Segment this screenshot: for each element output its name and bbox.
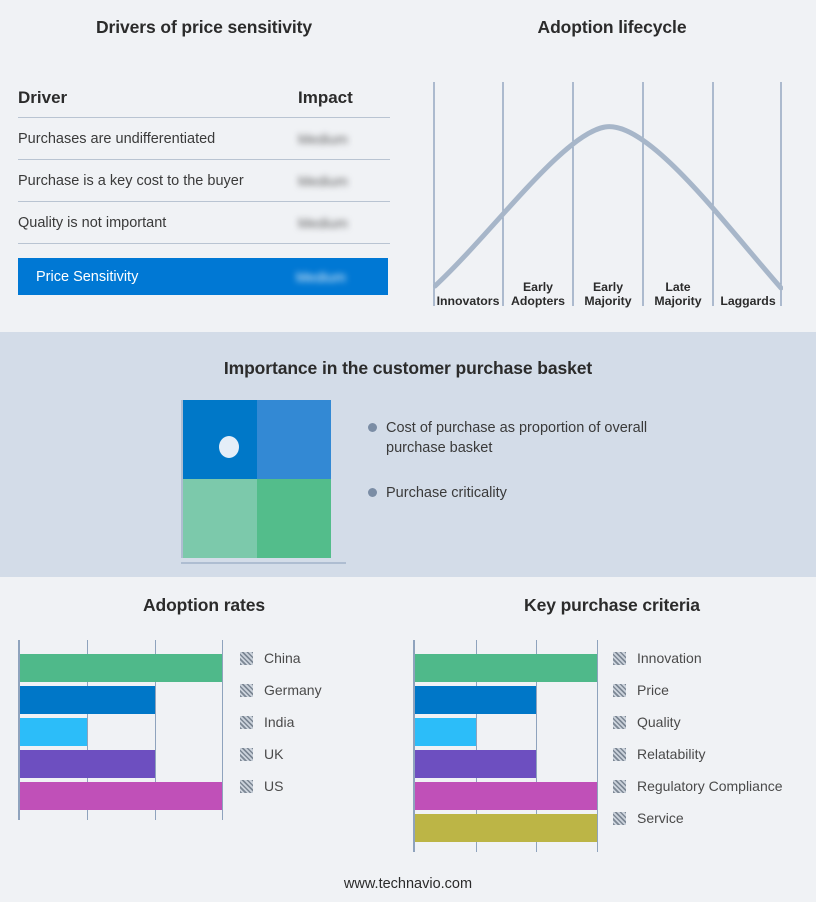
infographic-page: Drivers of price sensitivity Driver Impa…	[0, 0, 816, 902]
legend-label: India	[264, 714, 294, 730]
driver-label: Purchases are undifferentiated	[18, 131, 298, 147]
legend-item: Relatability	[613, 738, 783, 770]
bar-fill	[20, 654, 222, 682]
hatch-swatch-icon	[613, 716, 626, 729]
bullet-icon	[368, 488, 377, 497]
hatch-swatch-icon	[613, 748, 626, 761]
purchase-basket-panel: Importance in the customer purchase bask…	[0, 332, 816, 577]
quadrant-x-axis	[181, 562, 346, 564]
quadrant-top-right	[257, 400, 331, 479]
quadrant-bottom-right	[257, 479, 331, 558]
quadrant-bottom-left	[183, 479, 257, 558]
drivers-title: Drivers of price sensitivity	[0, 17, 408, 38]
gridline	[597, 640, 598, 852]
legend-item: Service	[613, 802, 783, 834]
impact-value: Medium	[298, 131, 390, 147]
legend-label: Cost of purchase as proportion of overal…	[386, 418, 648, 458]
legend-item: Price	[613, 674, 783, 706]
bar-fill	[20, 686, 155, 714]
bar-regulatory-compliance	[415, 782, 597, 810]
lifecycle-stage-late-majority: LateMajority	[643, 266, 713, 310]
impact-value: Medium	[298, 215, 390, 231]
hatch-swatch-icon	[613, 652, 626, 665]
hatch-swatch-icon	[240, 780, 253, 793]
bar-service	[415, 814, 597, 842]
lifecycle-stage-label: Laggards	[720, 294, 775, 308]
hatch-swatch-icon	[613, 684, 626, 697]
bar-fill	[415, 654, 597, 682]
legend-label: Price	[637, 682, 669, 698]
adoption-rates-legend: ChinaGermanyIndiaUKUS	[240, 642, 322, 802]
lifecycle-stage-label: LateMajority	[654, 280, 701, 308]
purchase-basket-title: Importance in the customer purchase bask…	[0, 358, 816, 379]
legend-label: Purchase criticality	[386, 483, 507, 503]
lifecycle-stage-early-majority: EarlyMajority	[573, 266, 643, 310]
lifecycle-stage-label: EarlyAdopters	[511, 280, 565, 308]
bar-fill	[415, 718, 476, 746]
legend-label: Service	[637, 810, 684, 826]
driver-label: Purchase is a key cost to the buyer	[18, 173, 298, 189]
key-purchase-criteria-panel: Key purchase criteria InnovationPriceQua…	[408, 580, 816, 902]
legend-item: Innovation	[613, 642, 783, 674]
legend-label: US	[264, 778, 283, 794]
bar-fill	[415, 814, 597, 842]
bar-quality	[415, 718, 476, 746]
key-purchase-criteria-title: Key purchase criteria	[408, 595, 816, 616]
legend-item: UK	[240, 738, 322, 770]
bar-china	[20, 654, 222, 682]
price-sensitivity-summary-row: Price Sensitivity Medium	[18, 258, 388, 295]
hatch-swatch-icon	[240, 684, 253, 697]
table-row: Quality is not important Medium	[18, 202, 390, 244]
hatch-swatch-icon	[613, 780, 626, 793]
driver-label: Quality is not important	[18, 215, 298, 231]
legend-item: Cost of purchase as proportion of overal…	[368, 418, 698, 458]
lifecycle-stage-labels: Innovators EarlyAdopters EarlyMajority L…	[433, 266, 783, 310]
bar-india	[20, 718, 87, 746]
key-purchase-criteria-plot	[413, 640, 597, 852]
adoption-rates-panel: Adoption rates ChinaGermanyIndiaUKUS	[0, 580, 408, 902]
adoption-rates-title: Adoption rates	[0, 595, 408, 616]
legend-item: US	[240, 770, 322, 802]
footer-url: www.technavio.com	[0, 876, 816, 892]
column-header-driver: Driver	[18, 88, 298, 108]
table-row: Purchases are undifferentiated Medium	[18, 118, 390, 160]
legend-label: Germany	[264, 682, 322, 698]
quadrant-position-marker	[219, 436, 239, 458]
legend-item: Germany	[240, 674, 322, 706]
bar-innovation	[415, 654, 597, 682]
price-sensitivity-label: Price Sensitivity	[36, 269, 296, 285]
bar-fill	[20, 782, 222, 810]
bar-germany	[20, 686, 155, 714]
bar-us	[20, 782, 222, 810]
legend-item: China	[240, 642, 322, 674]
legend-item: Regulatory Compliance	[613, 770, 783, 802]
bar-fill	[20, 750, 155, 778]
drivers-table-header: Driver Impact	[18, 88, 390, 118]
legend-label: Relatability	[637, 746, 705, 762]
bullet-icon	[368, 423, 377, 432]
impact-value: Medium	[298, 173, 390, 189]
adoption-rates-plot	[18, 640, 222, 820]
bar-fill	[415, 686, 536, 714]
quadrant-grid	[183, 400, 331, 558]
purchase-basket-quadrant-chart	[175, 400, 345, 570]
bar-price	[415, 686, 536, 714]
legend-label: Quality	[637, 714, 681, 730]
column-header-impact: Impact	[298, 88, 390, 108]
lifecycle-stage-label: Innovators	[437, 294, 500, 308]
legend-item: Purchase criticality	[368, 483, 698, 503]
legend-label: Innovation	[637, 650, 702, 666]
bar-relatability	[415, 750, 536, 778]
hatch-swatch-icon	[240, 652, 253, 665]
legend-label: China	[264, 650, 301, 666]
drivers-panel: Drivers of price sensitivity Driver Impa…	[0, 0, 408, 330]
bar-fill	[415, 750, 536, 778]
lifecycle-stage-innovators: Innovators	[433, 266, 503, 310]
lifecycle-title: Adoption lifecycle	[408, 17, 816, 38]
legend-label: UK	[264, 746, 283, 762]
key-purchase-criteria-legend: InnovationPriceQualityRelatabilityRegula…	[613, 642, 783, 834]
legend-label: Regulatory Compliance	[637, 778, 783, 794]
hatch-swatch-icon	[613, 812, 626, 825]
lifecycle-chart: Innovators EarlyAdopters EarlyMajority L…	[433, 82, 783, 310]
bar-fill	[415, 782, 597, 810]
lifecycle-stage-early-adopters: EarlyAdopters	[503, 266, 573, 310]
lifecycle-stage-laggards: Laggards	[713, 266, 783, 310]
price-sensitivity-impact: Medium	[296, 269, 388, 285]
legend-item: India	[240, 706, 322, 738]
hatch-swatch-icon	[240, 716, 253, 729]
bar-uk	[20, 750, 155, 778]
hatch-swatch-icon	[240, 748, 253, 761]
bar-fill	[20, 718, 87, 746]
drivers-table: Driver Impact Purchases are undifferenti…	[18, 88, 390, 295]
gridline	[222, 640, 223, 820]
lifecycle-stage-label: EarlyMajority	[584, 280, 631, 308]
purchase-basket-legend: Cost of purchase as proportion of overal…	[368, 418, 698, 528]
table-row: Purchase is a key cost to the buyer Medi…	[18, 160, 390, 202]
legend-item: Quality	[613, 706, 783, 738]
lifecycle-panel: Adoption lifecycle Innovators EarlyAdopt…	[408, 0, 816, 330]
